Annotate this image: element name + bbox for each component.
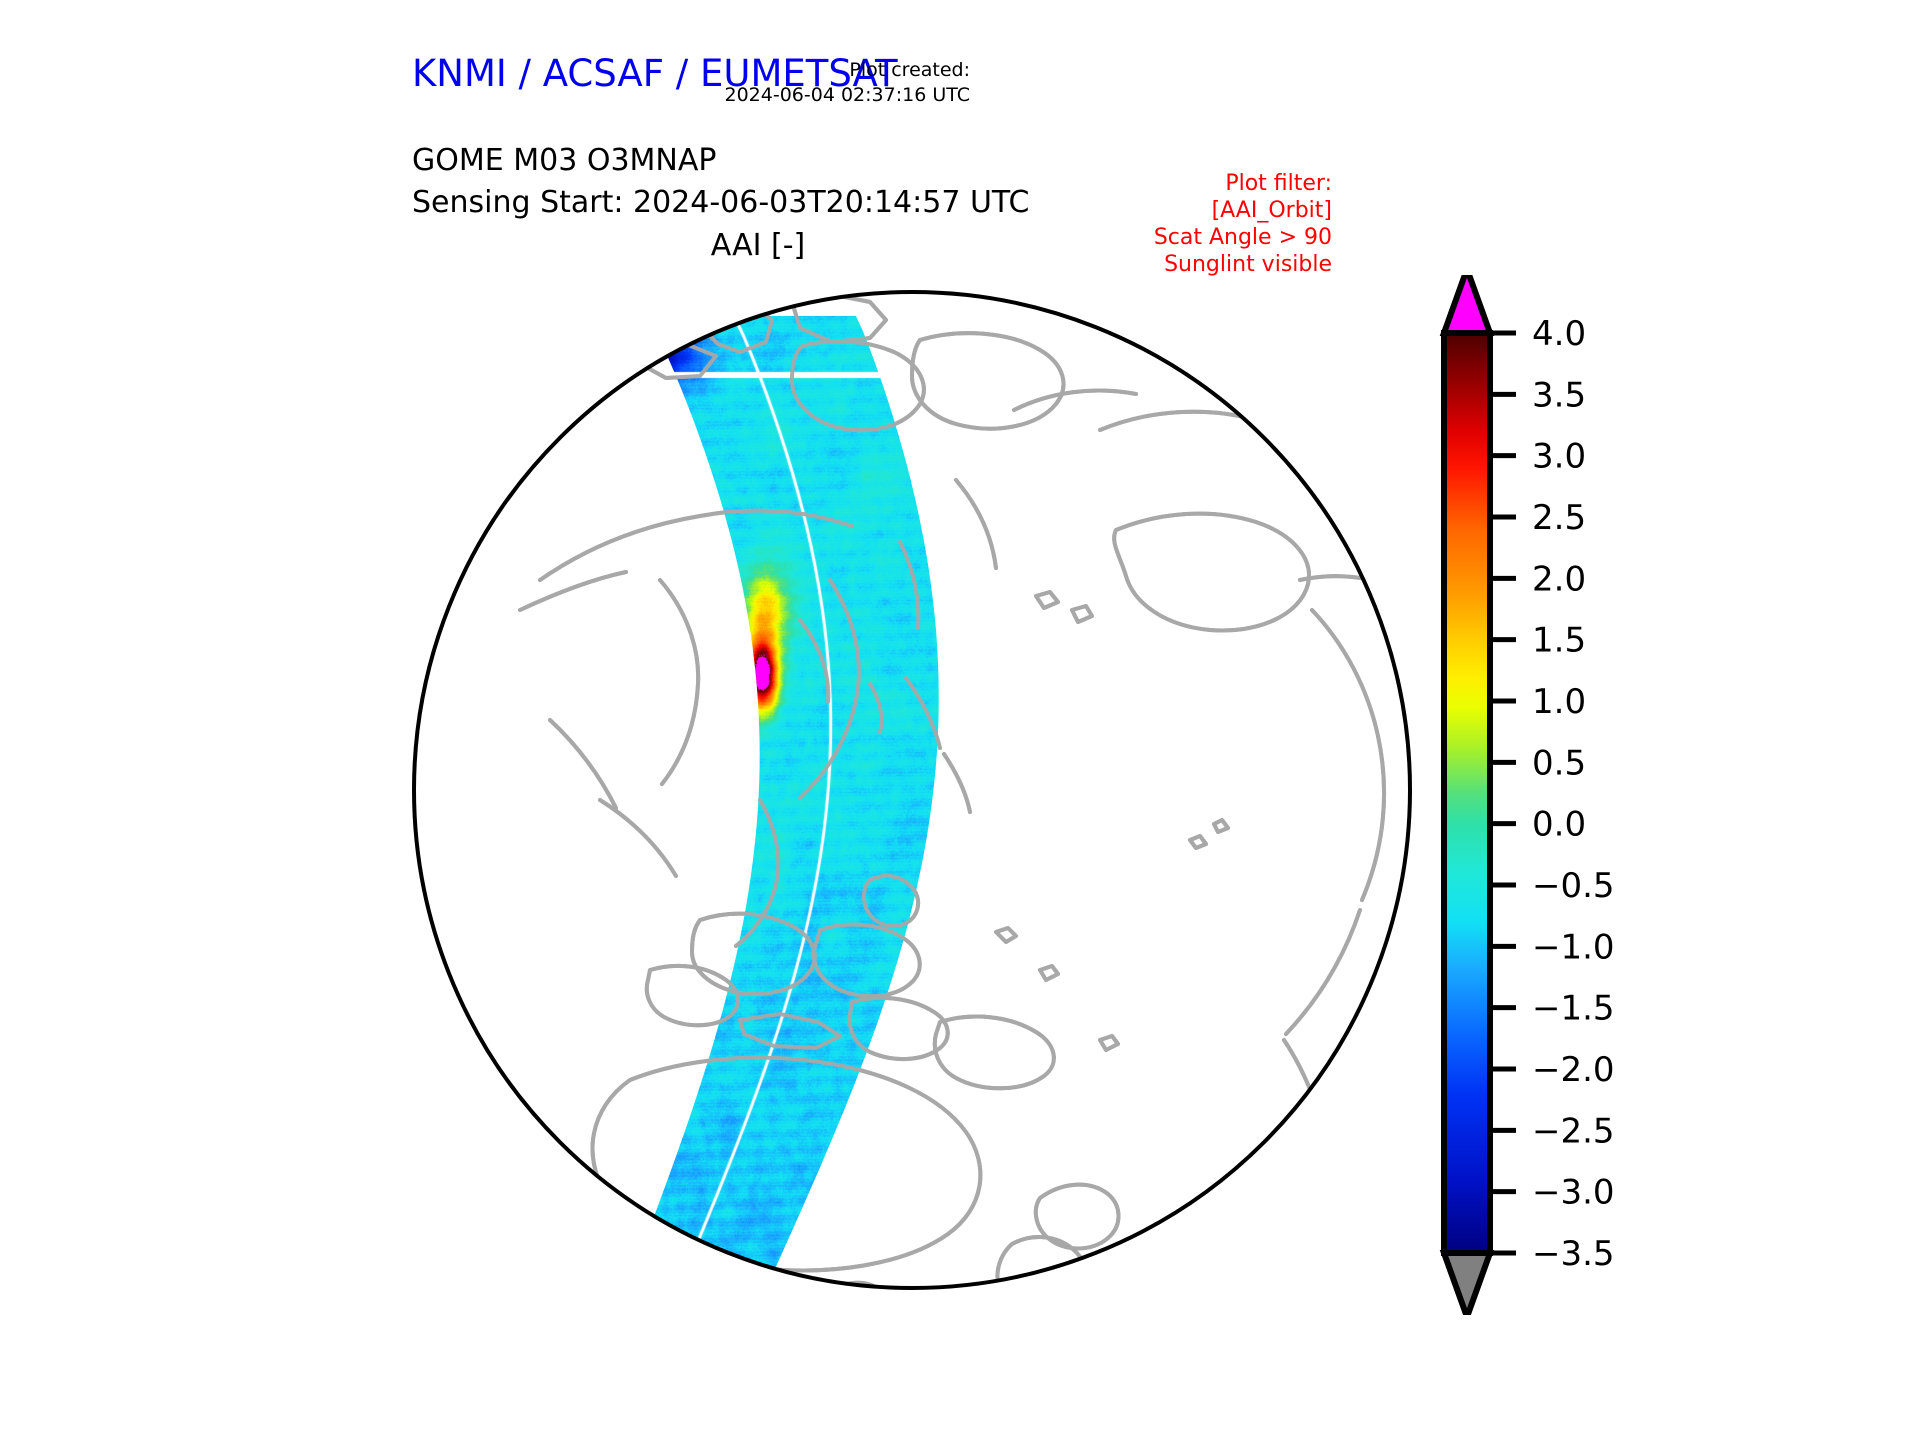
colorbar-tick-label: 1.5 [1532,621,1586,661]
coastline-path [1286,910,1360,1034]
coastline-path [1312,610,1384,900]
plot-filter-block: Plot filter: [AAI_Orbit] Scat Angle > 90… [1002,170,1332,278]
colorbar-tick-label: 3.5 [1532,375,1586,415]
plot-title-block: GOME M03 O3MNAP Sensing Start: 2024-06-0… [412,140,1029,224]
colorbar-tick-label: −1.5 [1532,989,1615,1029]
colorbar-tick-label: −2.5 [1532,1111,1615,1151]
colorbar-tick-label: −1.0 [1532,927,1615,967]
coastline-path [1114,514,1309,631]
colorbar-tick-label: −0.5 [1532,866,1615,906]
colorbar-tick-label: −3.5 [1532,1234,1615,1274]
colorbar-tick-label: 2.5 [1532,498,1586,538]
plot-filter-line-3: Sunglint visible [1002,251,1332,278]
colorbar-tick-label: 2.0 [1532,559,1586,599]
colorbar-tick-label: 3.0 [1532,437,1586,477]
colorbar-over-range-arrow [1444,275,1490,333]
globe-map-svg [400,280,1424,1304]
coastline-path [956,480,996,568]
plot-filter-line-0: Plot filter: [1002,170,1332,197]
coastline-path [1328,1170,1336,1292]
colorbar-tick-label: 4.0 [1532,314,1586,354]
colorbar-gradient-bar [1444,333,1490,1253]
coastline-path [944,754,970,812]
coastline-path [1190,836,1206,848]
coastline-path [1100,412,1315,480]
colorbar-ticks: 4.03.53.02.52.01.51.00.50.0−0.5−1.0−1.5−… [1490,314,1615,1274]
coastline-path [1040,966,1058,980]
coastline-path [1100,1036,1118,1050]
colorbar: 4.03.53.02.52.01.51.00.50.0−0.5−1.0−1.5−… [1428,275,1758,1315]
plot-created-label: Plot created: [610,58,970,83]
coastline-path [1284,1040,1330,1164]
coastline-path [600,800,676,876]
coastline-path [1072,606,1092,622]
colorbar-tick-label: 0.0 [1532,805,1586,845]
coastline-path [1100,412,1315,480]
plot-page: KNMI / ACSAF / EUMETSAT Plot created: 20… [0,0,1920,1440]
coastline-path [956,480,996,568]
colorbar-svg: 4.03.53.02.52.01.51.00.50.0−0.5−1.0−1.5−… [1428,275,1758,1315]
coastline-path [600,800,676,876]
plot-created-block: Plot created: 2024-06-04 02:37:16 UTC [610,58,970,108]
coastline-path [550,720,616,808]
coastline-path [996,928,1016,942]
plot-created-value: 2024-06-04 02:37:16 UTC [610,83,970,108]
data-swath-layer [580,300,1000,1300]
coastline-path [1284,1040,1330,1164]
colorbar-tick-label: −3.0 [1532,1173,1615,1213]
coastline-path [1014,391,1136,410]
globe-map [400,280,1424,1304]
colorbar-tick-label: 1.0 [1532,682,1586,722]
coastline-path [1312,610,1384,900]
instrument-title: GOME M03 O3MNAP [412,140,1029,182]
colorbar-tick-label: 0.5 [1532,743,1586,783]
coastlines-layer [520,294,1424,1304]
colorbar-under-range-arrow [1444,1253,1490,1315]
plot-filter-line-2: Scat Angle > 90 [1002,224,1332,251]
coastline-path [935,1017,1054,1089]
coastline-path [550,720,616,808]
coastline-path [1328,1170,1336,1292]
plot-filter-line-1: [AAI_Orbit] [1002,197,1332,224]
coastline-path [660,580,698,784]
coastline-path [1036,592,1058,608]
coastline-path [520,572,626,610]
coastline-path [1214,820,1228,832]
coastline-path [1286,910,1360,1034]
coastline-path [912,333,1063,428]
coastlines-overlay [520,294,1424,1304]
colorbar-tick-label: −2.0 [1532,1050,1615,1090]
sensing-start-title: Sensing Start: 2024-06-03T20:14:57 UTC [412,182,1029,224]
